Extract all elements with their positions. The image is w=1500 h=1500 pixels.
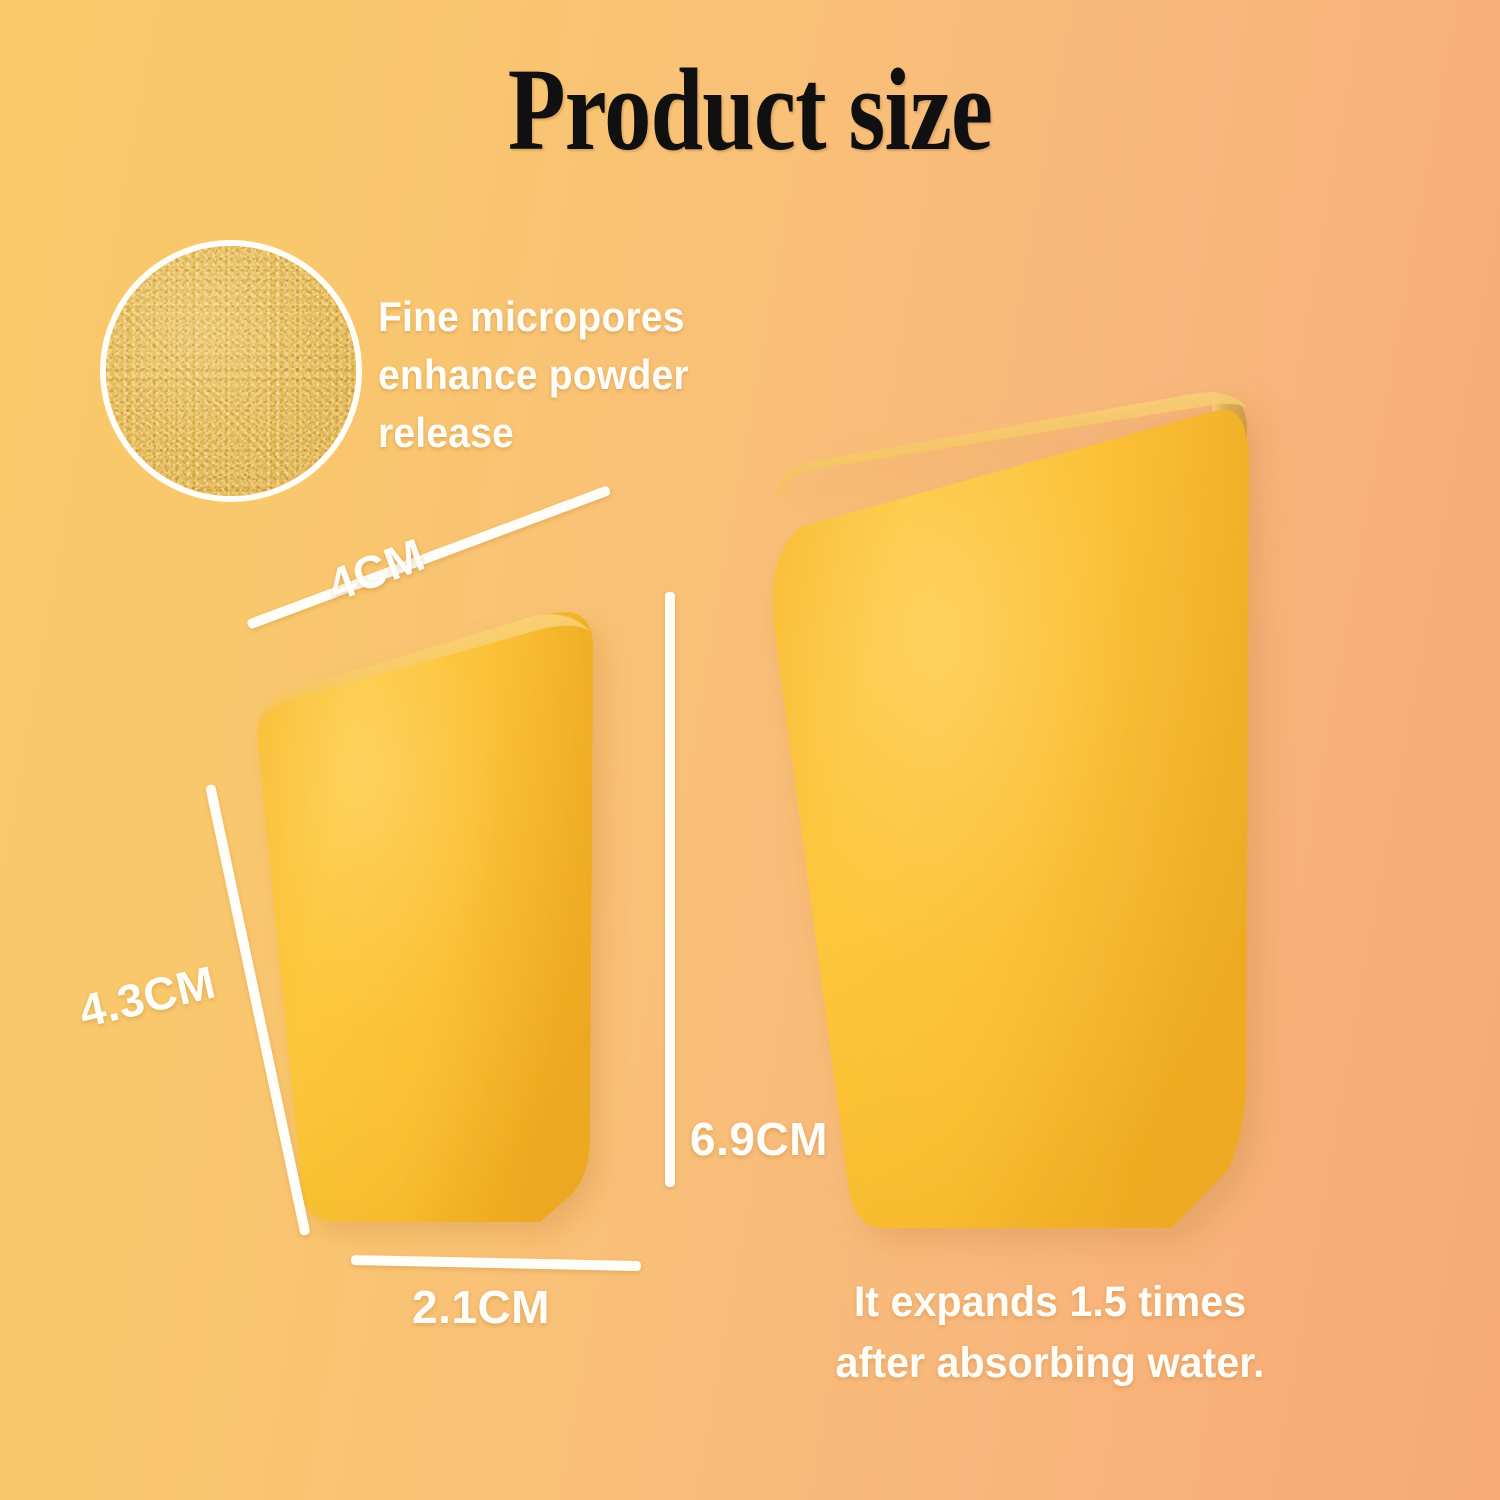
- dimension-label-height: 6.9CM: [690, 1112, 828, 1166]
- expanded-sponge-image: [760, 350, 1300, 1280]
- dimension-label-bottom: 2.1CM: [412, 1280, 550, 1334]
- expansion-note: It expands 1.5 times after absorbing wat…: [800, 1272, 1299, 1394]
- dry-sponge-image: [244, 600, 664, 1270]
- micropore-caption-line-2: enhance powder: [378, 346, 769, 404]
- micropore-caption: Fine micropores enhance powder release: [378, 288, 769, 462]
- micropore-caption-line-1: Fine micropores: [378, 288, 769, 346]
- page-title: Product size: [150, 48, 1350, 172]
- dimension-label-left: 4.3CM: [74, 955, 221, 1039]
- measure-line-height-6-9cm: [665, 592, 675, 1187]
- micropore-caption-line-3: release: [378, 404, 769, 462]
- micropore-texture-swatch: [100, 240, 362, 502]
- expansion-note-line-1: It expands 1.5 times: [800, 1272, 1299, 1333]
- micropore-shading-overlay: [106, 246, 356, 496]
- expansion-note-line-2: after absorbing water.: [800, 1333, 1299, 1394]
- product-size-infographic: Product size Fine micropores enhance pow…: [0, 0, 1500, 1500]
